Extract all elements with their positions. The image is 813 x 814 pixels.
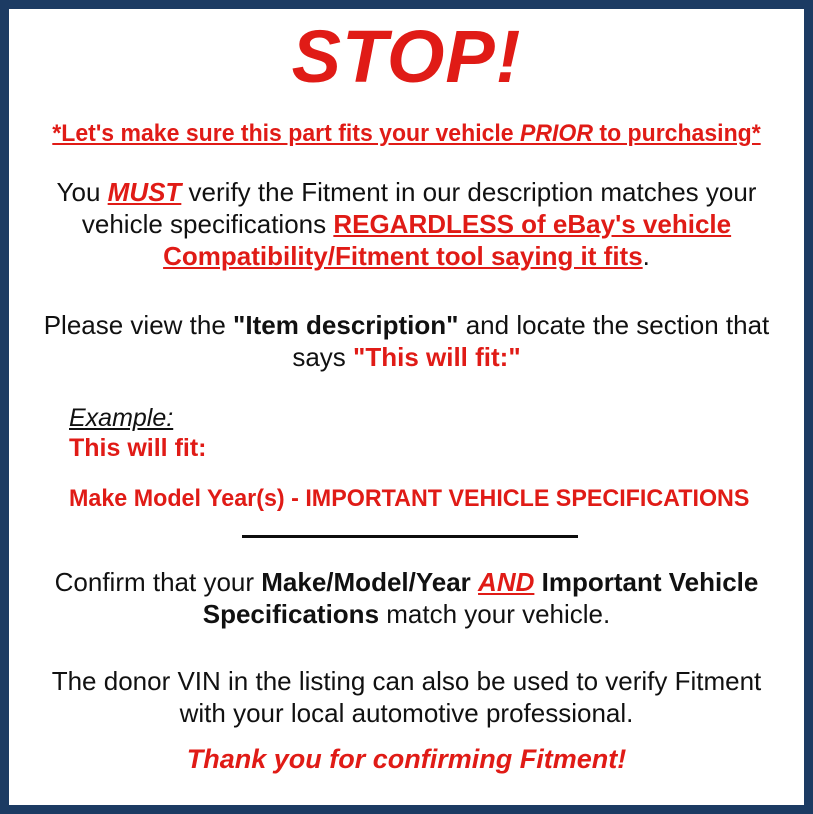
divider-wrap — [23, 535, 790, 538]
item-description-paragraph: Please view the "Item description" and l… — [23, 310, 790, 374]
must-part-3: . — [643, 241, 650, 271]
must-verify-paragraph: You MUST verify the Fitment in our descr… — [23, 177, 790, 273]
example-will-fit-heading: This will fit: — [69, 434, 790, 463]
confirm-part-1: Confirm that your — [55, 567, 262, 597]
view-part-1: Please view the — [44, 310, 233, 340]
page-title: STOP! — [23, 20, 790, 94]
subtitle-suffix: to purchasing* — [593, 120, 761, 147]
section-divider — [242, 535, 578, 538]
subtitle-warning: *Let's make sure this part fits your veh… — [38, 120, 774, 148]
donor-vin-paragraph: The donor VIN in the listing can also be… — [23, 666, 790, 730]
item-description-emphasis: "Item description" — [233, 310, 458, 340]
fitment-notice-card: STOP! *Let's make sure this part fits yo… — [0, 0, 813, 814]
must-emphasis: MUST — [108, 177, 182, 207]
must-part-1: You — [57, 177, 108, 207]
thank-you-message: Thank you for confirming Fitment! — [23, 744, 790, 775]
this-will-fit-emphasis: "This will fit:" — [353, 342, 521, 372]
example-label: Example: — [69, 404, 790, 432]
subtitle-emphasis-prior: PRIOR — [520, 120, 593, 147]
and-emphasis: AND — [478, 567, 534, 597]
example-block: Example: This will fit: Make Model Year(… — [23, 404, 790, 513]
confirm-part-2: match your vehicle. — [379, 599, 610, 629]
subtitle-prefix: *Let's make sure this part fits your veh… — [52, 120, 520, 147]
confirm-paragraph: Confirm that your Make/Model/Year AND Im… — [23, 567, 790, 631]
make-model-year-emphasis: Make/Model/Year — [261, 567, 471, 597]
example-spec-line: Make Model Year(s) - IMPORTANT VEHICLE S… — [69, 485, 768, 513]
